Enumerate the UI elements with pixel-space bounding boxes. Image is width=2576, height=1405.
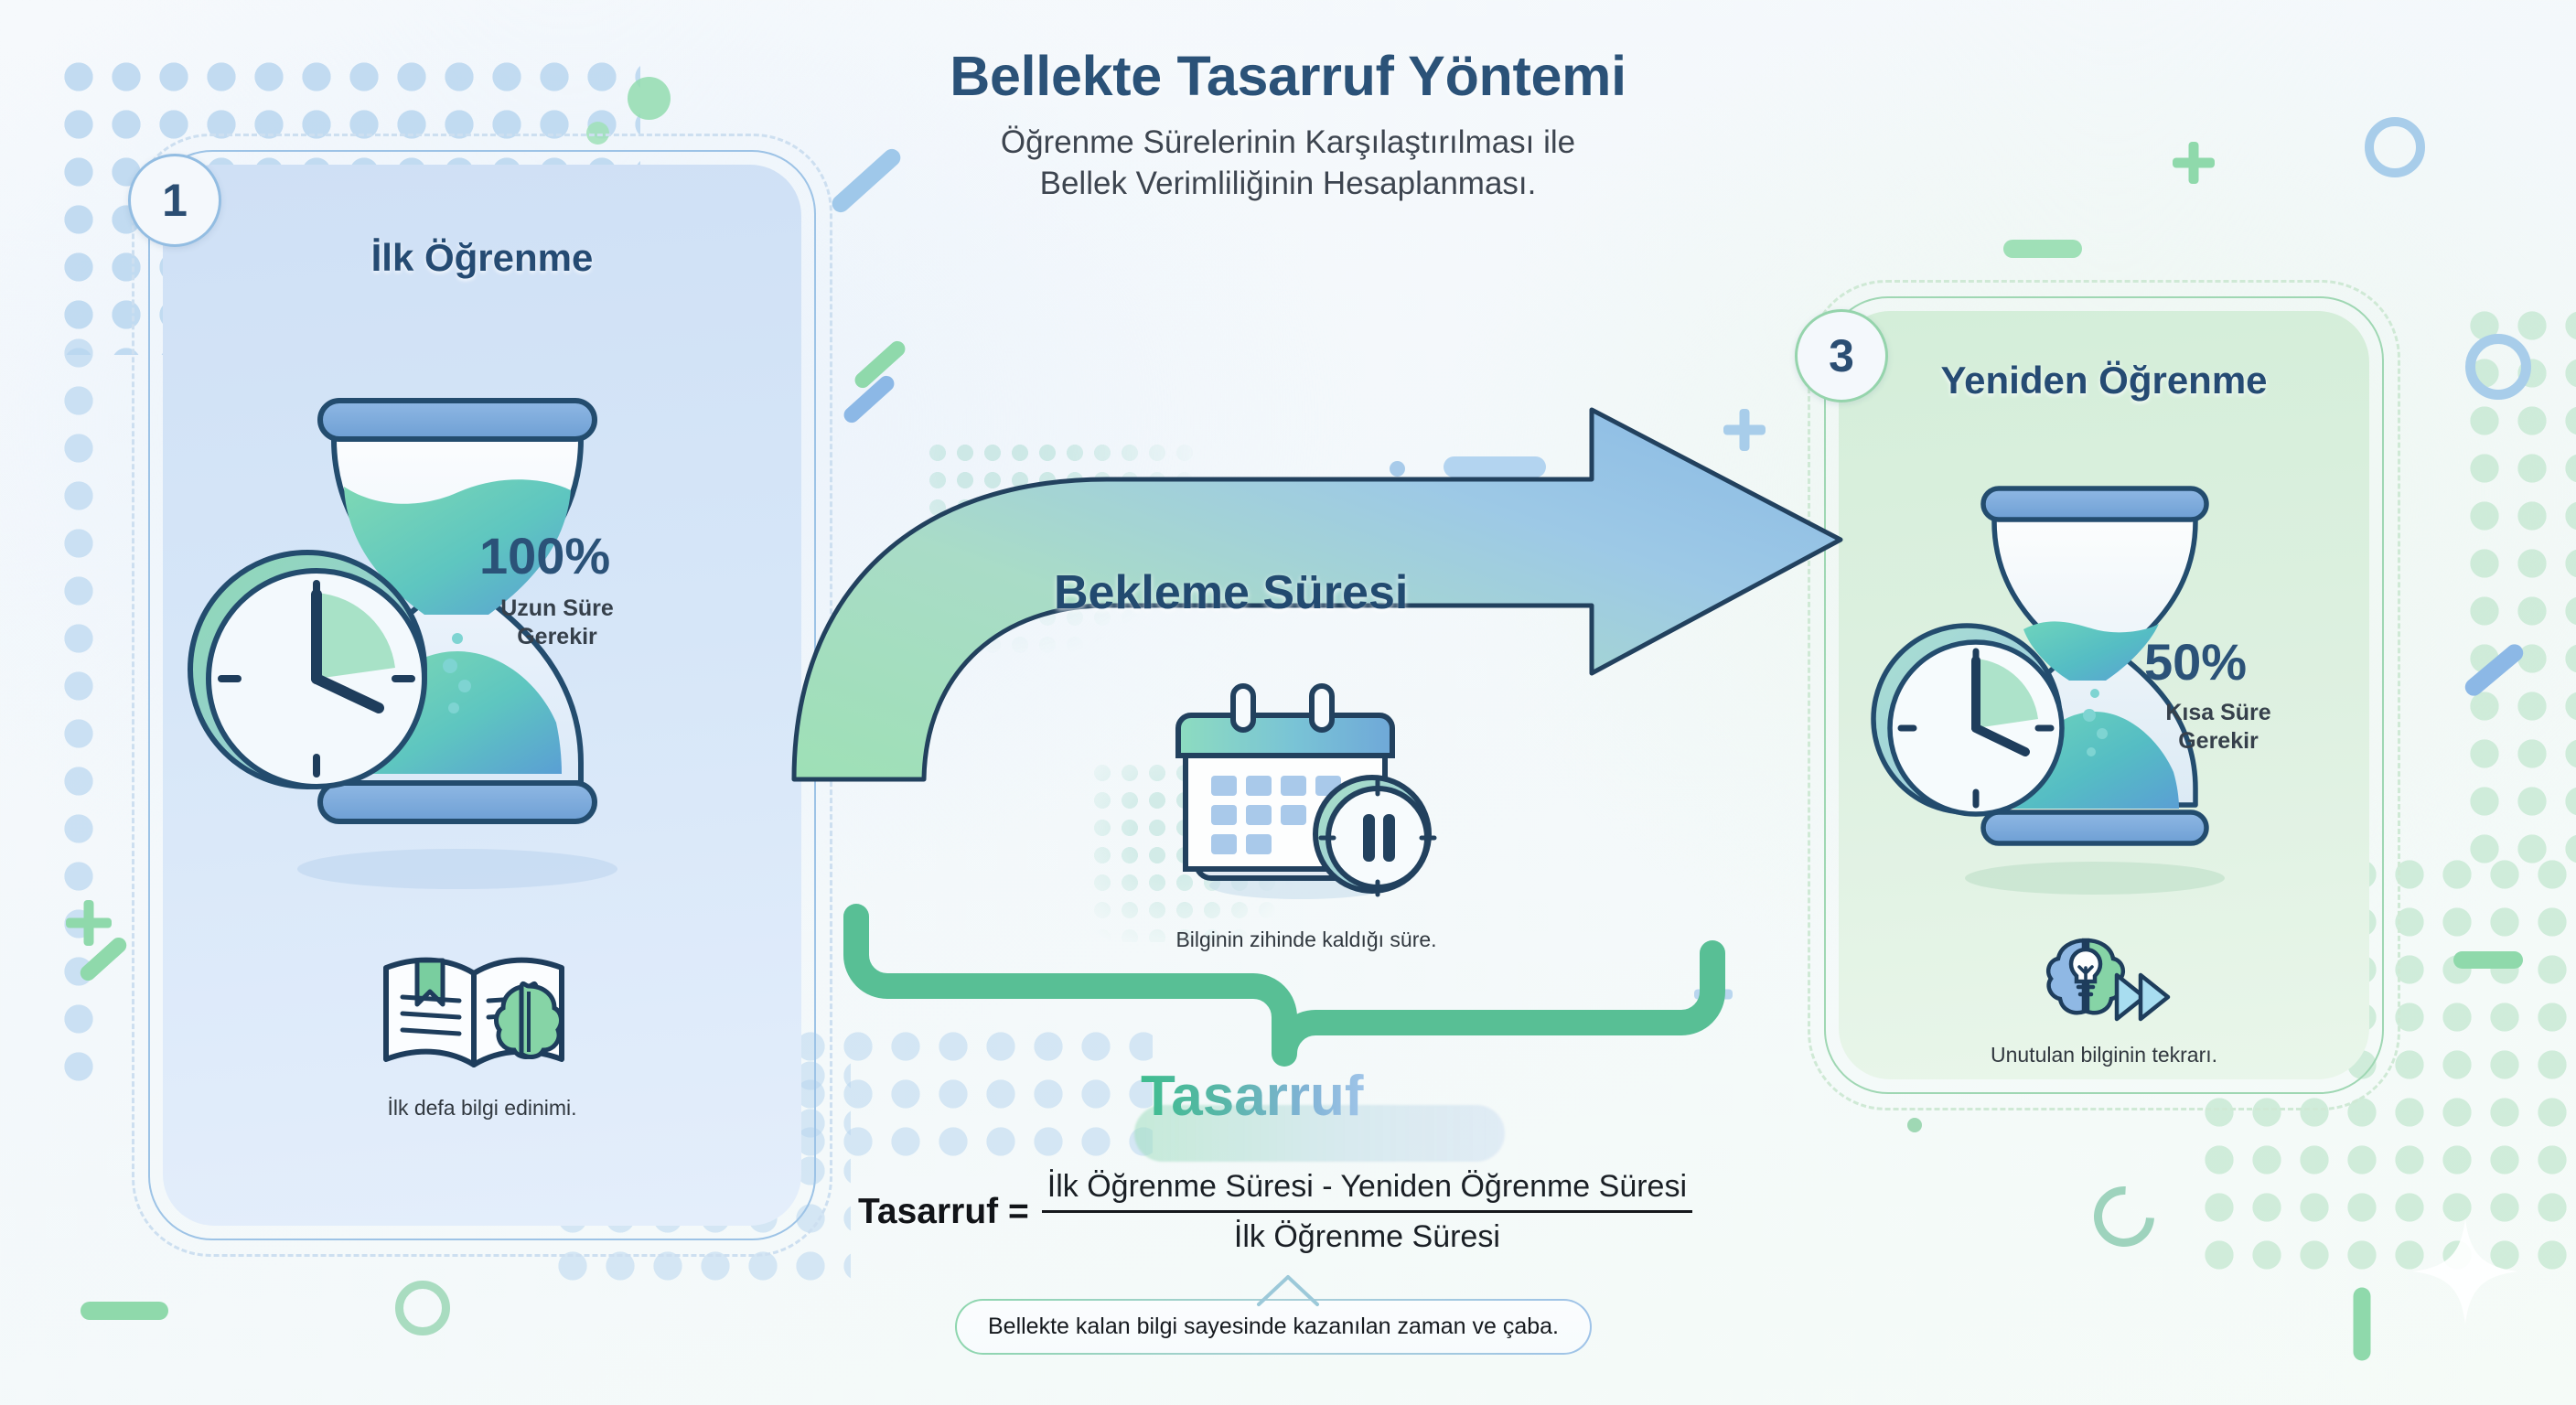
infographic-canvas: Bellekte Tasarruf Yöntemi Öğrenme Sürele… <box>0 0 2576 1405</box>
decor-dash-green-bottom-right <box>2354 1288 2371 1361</box>
pause-badge <box>1315 778 1434 895</box>
decor-dash-blue-right <box>2462 640 2527 699</box>
decor-dot-green-tiny <box>1907 1118 1922 1132</box>
step-percent-sub-1: Uzun Süre Gerekir <box>461 595 653 650</box>
formula-numerator: İlk Öğrenme Süresi - Yeniden Öğrenme Sür… <box>1042 1169 1692 1210</box>
tasarruf-note: Bellekte kalan bilgi sayesinde kazanılan… <box>955 1299 1592 1355</box>
clock-icon <box>1873 626 2062 814</box>
decor-plus-green-left <box>66 900 112 946</box>
header: Bellekte Tasarruf Yöntemi Öğrenme Sürele… <box>0 44 2576 205</box>
step-percent-sub-3-line1: Kısa Süre <box>2122 699 2314 727</box>
decor-c-arc <box>2081 1174 2166 1259</box>
step-footer-1: İlk defa bilgi edinimi. <box>163 1096 801 1121</box>
step-badge-1[interactable]: 1 <box>128 154 221 247</box>
page-title: Bellekte Tasarruf Yöntemi <box>0 44 2576 108</box>
subtitle-line-1: Öğrenme Sürelerinin Karşılaştırılması il… <box>831 123 1745 164</box>
decor-dash-green-right-mid <box>2453 951 2523 969</box>
step-percent-sub-1-line1: Uzun Süre <box>461 595 653 623</box>
book-brain-icon <box>375 942 590 1079</box>
step-title-1: İlk Öğrenme <box>163 236 801 280</box>
calendar-pause-icon <box>1164 673 1447 920</box>
step-card-ilk-ogrenme[interactable]: İlk Öğrenme <box>163 165 801 1226</box>
page-subtitle: Öğrenme Sürelerinin Karşılaştırılması il… <box>831 123 1745 205</box>
decor-dash-green-top-right <box>2003 240 2082 258</box>
formula-left-side: Tasarruf = <box>858 1192 1029 1232</box>
decor-sparkle <box>2410 1217 2520 1326</box>
tasarruf-heading: Tasarruf <box>1141 1068 1364 1125</box>
decor-ring-right-bottom <box>2465 334 2531 400</box>
step-badge-3[interactable]: 3 <box>1795 309 1888 402</box>
formula-denominator: İlk Öğrenme Süresi <box>1229 1213 1506 1255</box>
subtitle-line-2: Bellek Verimliliğinin Hesaplanması. <box>831 164 1745 205</box>
step-percent-sub-3-line2: Gerekir <box>2122 727 2314 756</box>
step-percent-1: 100% <box>479 531 610 582</box>
decor-dash-green-bottom-left <box>80 1302 168 1320</box>
step-footer-3: Unutulan bilginin tekrarı. <box>1839 1043 2369 1067</box>
formula-fraction: İlk Öğrenme Süresi - Yeniden Öğrenme Sür… <box>1042 1169 1692 1255</box>
clock-icon <box>190 552 424 787</box>
note-pointer <box>1255 1273 1321 1306</box>
step-percent-sub-1-line2: Gerekir <box>461 623 653 651</box>
step-percent-sub-3: Kısa Süre Gerekir <box>2122 699 2314 755</box>
step-percent-3: 50% <box>2144 637 2247 688</box>
brain-bulb-fastforward-icon <box>2038 929 2177 1035</box>
step-card-yeniden-ogrenme[interactable]: Yeniden Öğrenme <box>1839 311 2369 1079</box>
summary-brace <box>842 907 1775 1063</box>
decor-ring-left <box>395 1281 450 1335</box>
arrow-label-bekleme-suresi: Bekleme Süresi <box>1054 565 1408 620</box>
step-title-3: Yeniden Öğrenme <box>1839 359 2369 402</box>
tasarruf-formula: Tasarruf = İlk Öğrenme Süresi - Yeniden … <box>858 1169 1692 1255</box>
